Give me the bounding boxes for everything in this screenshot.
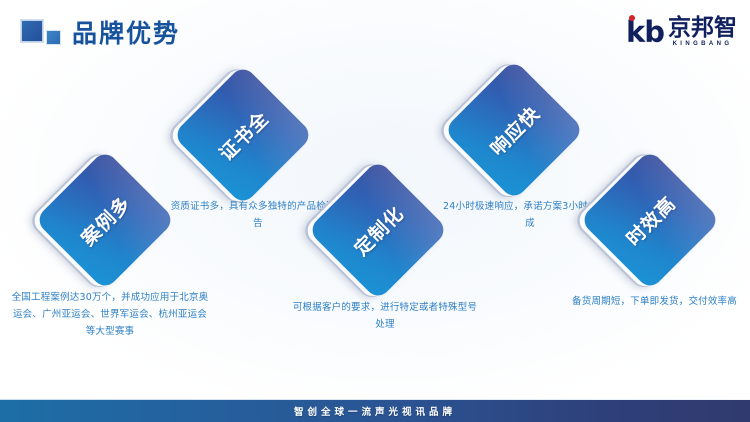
footer-slogan: 智创全球一流声光视讯品牌 <box>294 404 456 418</box>
advantage-label: 定制化 <box>307 159 448 300</box>
slide-footer: 智创全球一流声光视讯品牌 <box>0 400 750 422</box>
advantage-caption-customization: 可根据客户的要求，进行特定或者特殊型号处理 <box>290 299 480 333</box>
advantage-caption-efficiency: 备货周期短，下单即发货，交付效率高 <box>562 293 747 310</box>
slide-header: 品牌优势 kb 京邦智 KINGBANG <box>0 0 750 62</box>
decorative-square-large-icon <box>20 19 44 43</box>
advantage-label: 案例多 <box>34 149 175 290</box>
decorative-square-small-icon <box>46 30 61 45</box>
advantage-diamond-efficiency[interactable]: 时效高 <box>600 170 700 270</box>
advantage-label: 时效高 <box>579 149 720 290</box>
logo-name-block: 京邦智 KINGBANG <box>668 16 737 48</box>
logo-name-cn: 京邦智 <box>668 16 737 40</box>
logo-mark-text: kb <box>626 18 664 47</box>
advantage-diamond-certificates[interactable]: 证书全 <box>193 85 293 185</box>
advantage-caption-case-count: 全国工程案例达30万个，并成功应用于北京奥运会、广州亚运会、世界军运会、杭州亚运… <box>10 289 210 340</box>
page-title: 品牌优势 <box>72 14 180 50</box>
advantage-label: 证书全 <box>172 64 313 205</box>
advantage-diamond-customization[interactable]: 定制化 <box>328 180 428 280</box>
advantage-label: 响应快 <box>443 59 584 200</box>
logo-red-dot-icon <box>629 15 635 21</box>
slide-canvas: 品牌优势 kb 京邦智 KINGBANG 案例多 全国工程案例达30万个，并成功… <box>0 0 750 422</box>
logo-name-en: KINGBANG <box>668 40 737 48</box>
advantage-diamond-fast-response[interactable]: 响应快 <box>464 80 564 180</box>
advantage-diamond-case-count[interactable]: 案例多 <box>55 170 155 270</box>
brand-logo: kb 京邦智 KINGBANG <box>626 16 737 48</box>
logo-mark-icon: kb <box>626 16 664 48</box>
